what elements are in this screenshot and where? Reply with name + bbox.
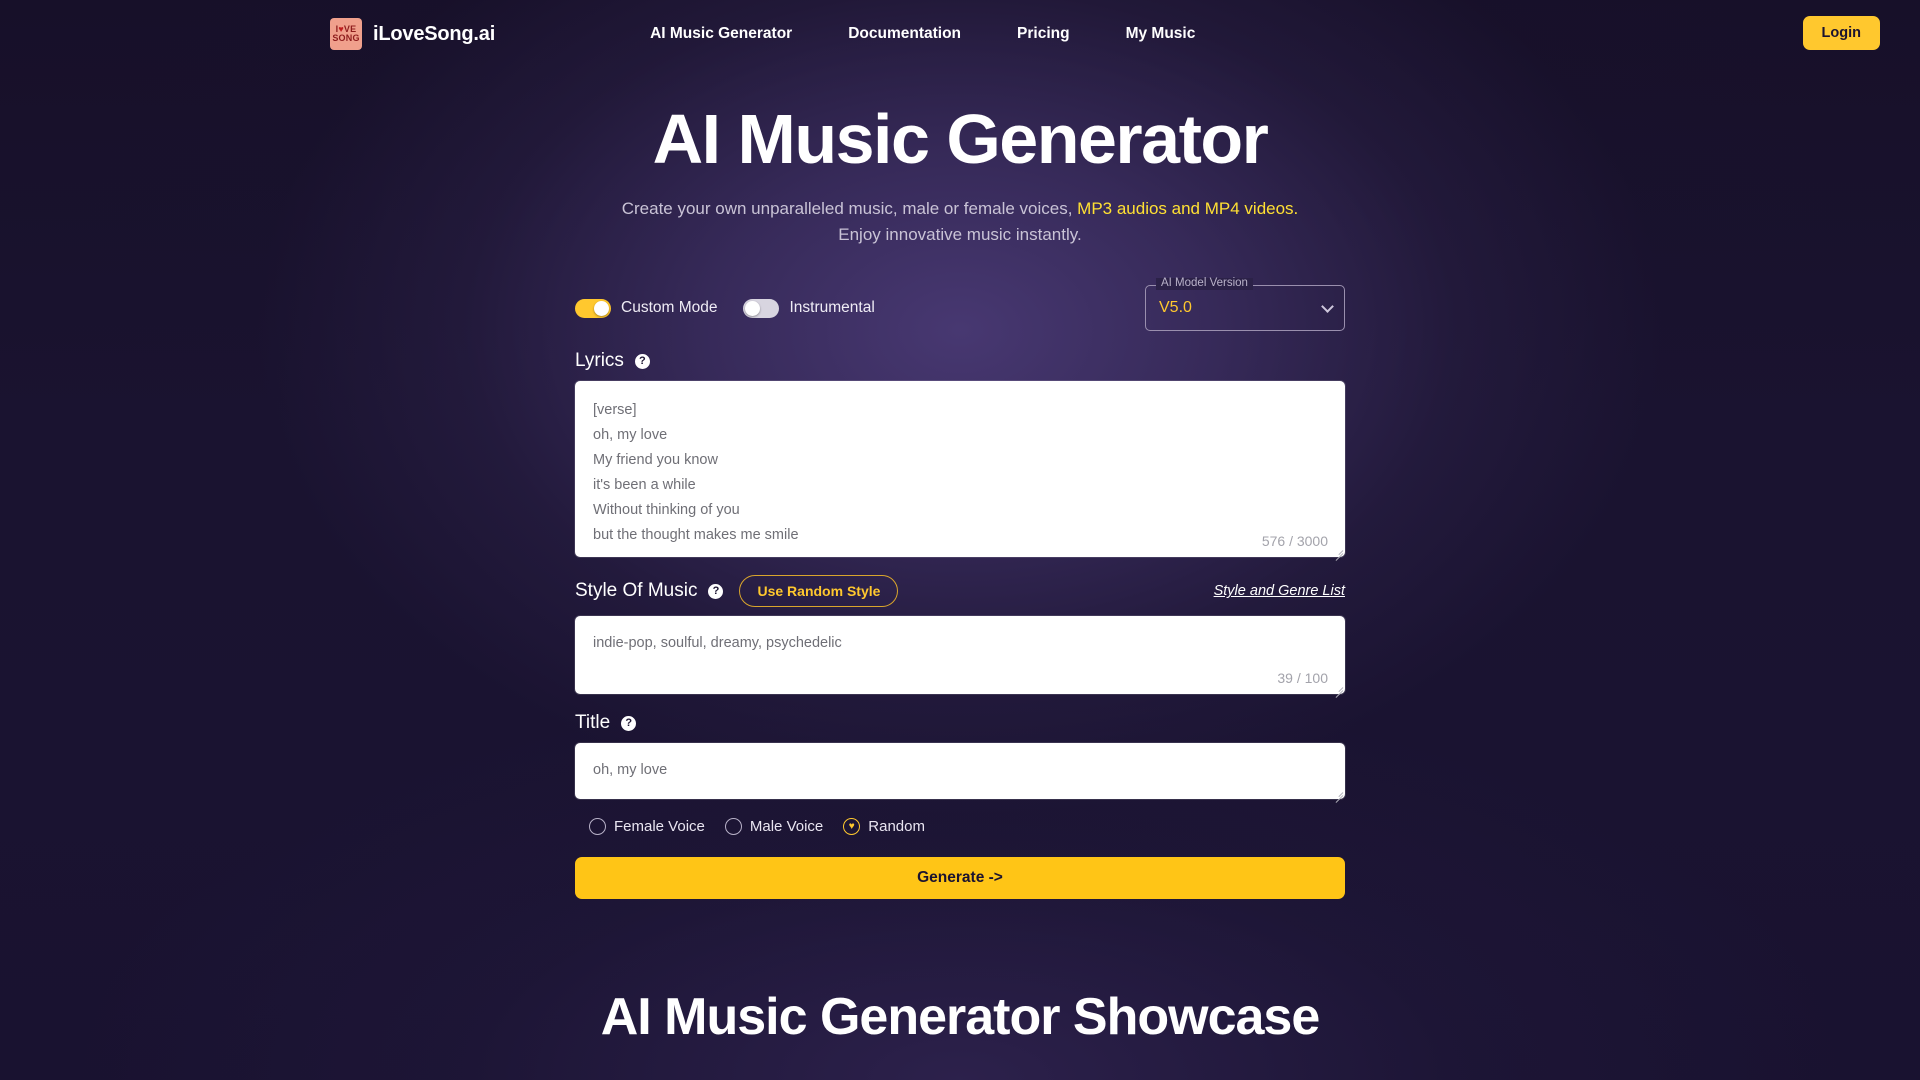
top-navbar: I♥VE SONG iLoveSong.ai AI Music Generato… xyxy=(0,0,1920,68)
style-of-music-label: Style Of Music xyxy=(575,580,697,602)
resize-handle[interactable] xyxy=(1333,682,1343,692)
help-icon[interactable]: ? xyxy=(621,716,636,731)
generator-form: Custom Mode Instrumental AI Model Versio… xyxy=(575,284,1345,899)
radio-female-voice[interactable]: Female Voice xyxy=(589,818,705,835)
nav-item-my-music[interactable]: My Music xyxy=(1126,25,1196,43)
nav-item-ai-music-generator[interactable]: AI Music Generator xyxy=(650,25,792,43)
ai-model-version-value: V5.0 xyxy=(1159,299,1192,317)
page-title: AI Music Generator xyxy=(0,98,1920,181)
radio-circle-icon[interactable] xyxy=(589,818,606,835)
radio-male-voice[interactable]: Male Voice xyxy=(725,818,823,835)
nav-item-documentation[interactable]: Documentation xyxy=(848,25,961,43)
generate-button[interactable]: Generate -> xyxy=(575,857,1345,899)
showcase-section: AI Music Generator Showcase xyxy=(0,987,1920,1047)
instrumental-toggle[interactable]: Instrumental xyxy=(743,299,874,318)
style-label-row: Style Of Music ? Use Random Style Style … xyxy=(575,575,1345,607)
hero-subtitle-highlight: MP3 audios and MP4 videos. xyxy=(1077,199,1298,218)
switch-knob xyxy=(594,301,609,316)
lyrics-label: Lyrics xyxy=(575,350,624,372)
showcase-title: AI Music Generator Showcase xyxy=(0,987,1920,1047)
radio-random-voice[interactable]: ♥ Random xyxy=(843,818,925,835)
hero-subtitle-line2: Enjoy innovative music instantly. xyxy=(838,225,1081,244)
form-top-row: Custom Mode Instrumental AI Model Versio… xyxy=(575,284,1345,332)
radio-circle-icon[interactable] xyxy=(725,818,742,835)
radio-label-random: Random xyxy=(868,818,925,835)
nav-links: AI Music Generator Documentation Pricing… xyxy=(650,25,1195,43)
logo-line-two: SONG xyxy=(332,34,359,43)
chevron-down-icon[interactable] xyxy=(1321,300,1334,313)
switch-knob xyxy=(745,301,760,316)
style-input[interactable]: indie-pop, soulful, dreamy, psychedelic … xyxy=(575,616,1345,694)
brand-name: iLoveSong.ai xyxy=(373,23,495,46)
hero-subtitle-text: Create your own unparalleled music, male… xyxy=(622,199,1077,218)
nav-item-pricing[interactable]: Pricing xyxy=(1017,25,1070,43)
lyrics-label-row: Lyrics ? xyxy=(575,350,1345,372)
ilovesong-logo-icon: I♥VE SONG xyxy=(330,18,362,50)
ai-model-version-select[interactable]: AI Model Version V5.0 xyxy=(1145,285,1345,331)
lyrics-value[interactable]: [verse] oh, my love My friend you know i… xyxy=(575,381,1345,556)
title-label-row: Title ? xyxy=(575,712,1345,734)
lyrics-input[interactable]: [verse] oh, my love My friend you know i… xyxy=(575,381,1345,557)
voice-radio-group: Female Voice Male Voice ♥ Random xyxy=(575,818,1345,835)
help-icon[interactable]: ? xyxy=(635,354,650,369)
radio-circle-selected-icon[interactable]: ♥ xyxy=(843,818,860,835)
ai-model-version-legend: AI Model Version xyxy=(1156,278,1253,290)
style-value[interactable]: indie-pop, soulful, dreamy, psychedelic xyxy=(575,616,1345,664)
custom-mode-switch-icon[interactable] xyxy=(575,299,611,318)
radio-label-female-voice: Female Voice xyxy=(614,818,705,835)
resize-handle[interactable] xyxy=(1333,787,1343,797)
instrumental-label: Instrumental xyxy=(789,299,874,317)
brand-logo-link[interactable]: I♥VE SONG iLoveSong.ai xyxy=(330,18,495,50)
page-root: I♥VE SONG iLoveSong.ai AI Music Generato… xyxy=(0,0,1920,1080)
heart-icon: ♥ xyxy=(849,822,855,832)
help-icon[interactable]: ? xyxy=(708,584,723,599)
custom-mode-label: Custom Mode xyxy=(621,299,717,317)
style-and-genre-list-link[interactable]: Style and Genre List xyxy=(1214,583,1345,599)
title-label: Title xyxy=(575,712,610,734)
lyrics-character-counter: 576 / 3000 xyxy=(1262,533,1328,549)
resize-handle[interactable] xyxy=(1333,545,1343,555)
hero-section: AI Music Generator Create your own unpar… xyxy=(0,98,1920,248)
title-input[interactable]: oh, my love xyxy=(575,743,1345,799)
style-character-counter: 39 / 100 xyxy=(1277,670,1328,686)
login-button[interactable]: Login xyxy=(1803,16,1880,50)
use-random-style-button[interactable]: Use Random Style xyxy=(739,575,898,607)
custom-mode-toggle[interactable]: Custom Mode xyxy=(575,299,717,318)
hero-subtitle: Create your own unparalleled music, male… xyxy=(0,196,1920,249)
radio-label-male-voice: Male Voice xyxy=(750,818,823,835)
title-value[interactable]: oh, my love xyxy=(575,743,1345,791)
mode-toggles: Custom Mode Instrumental xyxy=(575,299,875,318)
instrumental-switch-icon[interactable] xyxy=(743,299,779,318)
